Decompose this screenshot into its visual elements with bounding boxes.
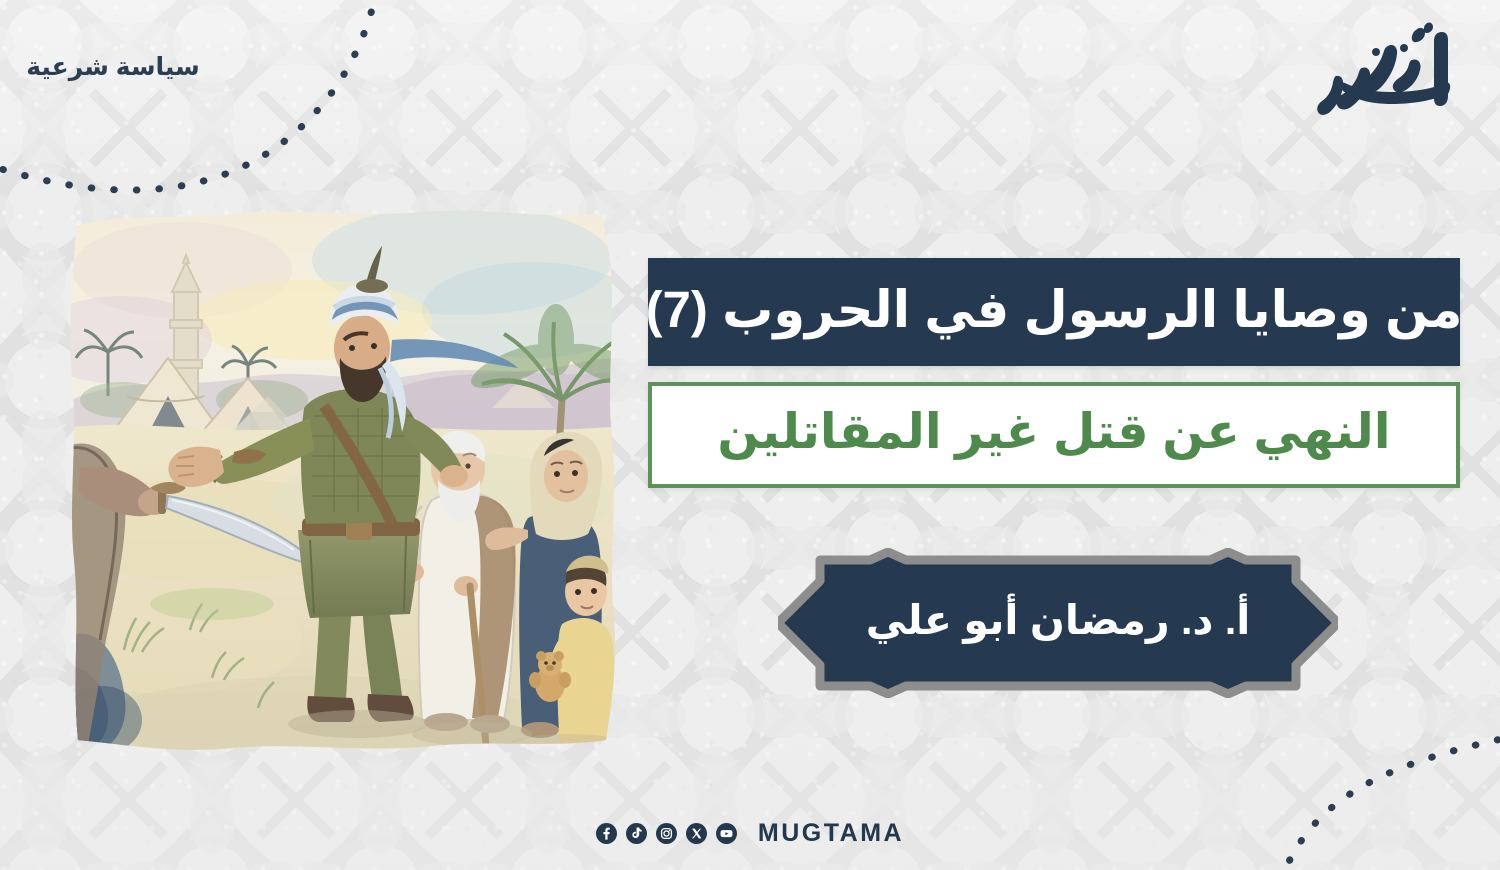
- x-icon[interactable]: [686, 823, 707, 844]
- page-title: من وصايا الرسول في الحروب (7): [646, 284, 1463, 340]
- author-badge: أ. د. رمضان أبو علي: [778, 548, 1338, 698]
- instagram-icon[interactable]: [656, 823, 677, 844]
- facebook-icon[interactable]: [596, 823, 617, 844]
- page-subtitle: النهي عن قتل غير المقاتلين: [717, 408, 1390, 462]
- section-tag: سياسة شرعية: [18, 52, 208, 82]
- tiktok-icon[interactable]: [626, 823, 647, 844]
- article-title-box: من وصايا الرسول في الحروب (7): [648, 258, 1460, 366]
- footer-brand-name: MUGTAMA: [758, 819, 904, 848]
- article-illustration: [62, 200, 624, 758]
- youtube-icon[interactable]: [716, 823, 737, 844]
- article-subtitle-box: النهي عن قتل غير المقاتلين: [648, 382, 1460, 488]
- footer-bar: MUGTAMA: [0, 819, 1500, 848]
- brand-logo-mugtama: [1292, 16, 1472, 131]
- poster-canvas: سياسة شرعية: [0, 0, 1500, 870]
- author-name: أ. د. رمضان أبو علي: [778, 548, 1338, 698]
